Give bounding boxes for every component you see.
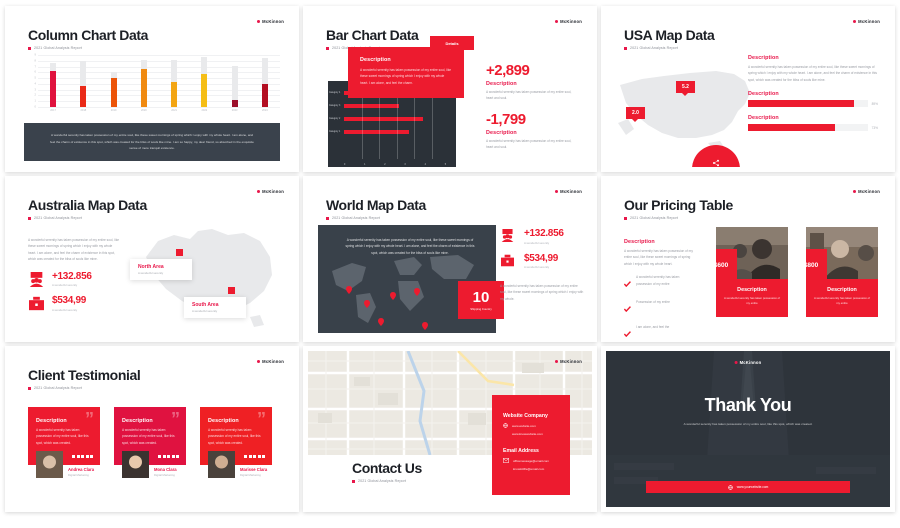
chart-bar-row: Category 1 [344,128,446,136]
chart-bar [80,55,86,107]
brand-logo: McKinnon [853,19,880,24]
star-icon [167,455,170,458]
gridline [38,107,280,108]
plan-price: $600 [716,262,728,269]
bar-fill [50,71,56,107]
website-cta-button[interactable]: www.yourwebsite.com [646,481,850,493]
star-icon [163,455,166,458]
logo-dot-icon [853,20,856,23]
rating-stars [244,455,265,458]
pricing-info-panel: Description A wonderful serenity has tak… [624,239,694,337]
bar-fill [111,78,117,107]
x-tick-label: 2020 [137,109,151,112]
briefcase-icon [500,254,517,269]
brand-logo: McKinnon [257,189,284,194]
brand-logo: McKinnon [257,359,284,364]
website-line: www.website.com [512,424,536,428]
bar-fill [232,100,238,107]
bullet-square-icon [352,480,355,483]
slide-contact-us[interactable]: McKinnon Contact Us 2021 Global Analysis… [303,346,597,512]
y-tick-label: 7 [35,65,36,68]
stats-column: +2,899 Description A wonderful serenity … [486,63,578,161]
bar-fill [262,84,268,107]
bullet-square-icon [624,47,627,50]
chart-x-axis: 012345 [344,164,446,166]
stats-panel: A wonderful serenity has taken possessio… [28,237,120,312]
plan-photo: $800 [806,227,878,279]
map-pin-icon[interactable] [364,295,370,303]
star-icon [77,455,80,458]
panel-body: A wonderful serenity has taken possessio… [748,64,878,83]
stat-sub: A wonderful serenity [524,265,558,269]
star-icon [258,455,261,458]
stat-heading: Description [486,130,578,136]
description-card: Description A wonderful serenity has tak… [348,47,464,98]
website-line: www.knowwebsite.com [512,432,543,436]
map-label-title: South Area [192,302,238,308]
progress-value: 73% [872,126,878,130]
logo-text: McKinnon [560,19,582,24]
plan-heading: Description [724,287,780,293]
bar-fill [201,74,207,108]
chart-bar [111,55,117,107]
y-tick-label: 9 [35,54,36,57]
x-tick-label: 4 [425,164,426,166]
client-name: Mona Clara [154,467,177,472]
card-body: A wonderful serenity has taken possessio… [36,427,92,446]
chart-bar [201,55,207,107]
check-icon [624,274,631,292]
plan-body: A wonderful serenity has taken possessio… [724,296,780,307]
quote-icon: ” [257,413,266,426]
website-row[interactable]: www.knowwebsite.com [503,432,559,436]
checklist-item: I am alone, and feel the [624,324,694,337]
stat-value: +132.856 [52,272,92,283]
map-pin-icon[interactable] [422,317,428,325]
star-icon [72,455,75,458]
email-row[interactable]: officemessage@email.com [503,458,559,463]
checklist-item: Possession of my entire [624,299,694,317]
website-heading: Website Company [503,413,559,419]
subtitle-row: 2021 Global Analysis Report [352,479,422,483]
checklist-text: Possession of my entire [636,299,670,305]
page-subtitle: 2021 Global Analysis Report [34,386,82,390]
star-icon [81,455,84,458]
bar-fill [344,130,409,134]
map-marker-square[interactable] [228,287,235,294]
star-icon [262,455,265,458]
plan-photo: $600 [716,227,788,279]
bar-fill [344,117,423,121]
progress-label: Description [748,115,878,121]
chart-bar-row: Category 2 [344,115,446,123]
side-body: A wonderful serenity has taken possessio… [500,283,584,302]
pricing-card[interactable]: $600 Description A wonderful serenity ha… [716,227,788,317]
star-icon [90,455,93,458]
stat-text: $534,99 A wonderful serenity [52,296,86,312]
thankyou-block: Thank You A wonderful serenity has taken… [606,395,890,427]
stat-block: -1,799 Description A wonderful serenity … [486,112,578,151]
slide-grid: McKinnon Column Chart Data 2021 Global A… [0,0,900,528]
page-title: USA Map Data [624,27,714,43]
overlay-text-block: A wonderful serenity has taken possessio… [344,237,476,256]
bar-fill [344,104,399,108]
plan-heading: Description [814,287,870,293]
stat-sub: A wonderful serenity [52,283,92,287]
info-panel: Description A wonderful serenity has tak… [748,55,878,131]
client-name: Marisse Clara [240,467,267,472]
page-subtitle: 2021 Global Analysis Report [34,216,82,220]
panel-body: A wonderful serenity has taken possessio… [624,248,694,267]
stat-value: +132.856 [524,229,564,240]
progress-track [748,124,868,131]
plan-footer: Description A wonderful serenity has tak… [806,279,878,317]
map-label-title: North Area [138,264,184,270]
stat-value: $534,99 [524,254,558,265]
stat-row: +132.856 A wonderful serenity [500,229,584,245]
usa-map: 5.2 2.0 Shareable Value [612,59,758,155]
slide-australia-map-data[interactable]: McKinnon Australia Map Data 2021 Global … [5,176,299,342]
progress-fill [748,100,854,107]
people-group-icon [28,272,45,287]
chart-bars [38,55,280,107]
card-heading: Description [122,418,178,424]
checklist-item: A wonderful serenity has taken possessio… [624,274,694,292]
slide-header: Our Pricing Table 2021 Global Analysis R… [624,197,733,220]
bullet-square-icon [28,217,31,220]
logo-text: McKinnon [560,189,582,194]
x-tick-label: 2017 [46,109,60,112]
feature-checklist: A wonderful serenity has taken possessio… [624,274,694,337]
y-tick-label: 8 [35,59,36,62]
page-subtitle: 2021 Global Analysis Report [358,479,406,483]
x-tick-label: 0 [344,164,345,166]
y-tick-label: 4 [35,82,36,85]
bar-category-label: Category 3 [329,105,340,107]
logo-dot-icon [257,360,260,363]
client-role: Digital Marketing [240,473,261,477]
badge-value: 10 [473,290,490,305]
map-label-sub: A wonderful serenity [192,309,238,313]
progress-group: Description 73% [748,115,878,131]
page-title: Contact Us [352,460,422,476]
email-heading: Email Address [503,448,559,454]
map-marker[interactable]: 5.2 [676,81,695,93]
brand-logo: McKinnon [555,359,582,364]
panel-heading: Description [748,55,878,61]
map-label-card[interactable]: North Area A wonderful serenity [130,259,192,280]
client-name: Andrea Clara [68,467,94,472]
rating-stars [72,455,93,458]
star-icon [176,455,179,458]
slide-column-chart-data[interactable]: McKinnon Column Chart Data 2021 Global A… [5,6,299,172]
page-subtitle: 2021 Global Analysis Report [630,216,678,220]
y-tick-label: 0 [35,106,36,109]
star-icon [172,455,175,458]
map-label-sub: A wonderful serenity [138,271,184,275]
stat-row: +132.856 A wonderful serenity [28,272,120,288]
subtitle-row: 2021 Global Analysis Report [624,216,733,220]
chart-x-axis: 20172018201920202021202220232024 [38,109,280,112]
chart-bar-row: Category 3 [344,102,446,110]
brand-logo: McKinnon [853,189,880,194]
logo-text: McKinnon [560,359,582,364]
x-tick-label: 2 [384,164,385,166]
stat-value: $534,99 [52,296,86,307]
bullet-square-icon [624,217,627,220]
progress-row: 89% [748,100,878,107]
chart-bar [141,55,147,107]
chart-y-axis: 9876543210 [28,55,36,107]
bullet-square-icon [326,217,329,220]
logo-dot-icon [735,361,738,364]
slide-client-testimonial[interactable]: McKinnon Client Testimonial 2021 Global … [5,346,299,512]
thankyou-body: A wonderful serenity has taken possessio… [606,421,890,427]
contact-card: Website Company www.website.com www.know… [492,395,570,495]
y-tick-label: 6 [35,71,36,74]
stat-row: $534,99 A wonderful serenity [500,254,584,270]
subtitle-row: 2021 Global Analysis Report [28,386,140,390]
chart-bar [50,55,56,107]
logo-text: McKinnon [262,189,284,194]
slide-header: Contact Us 2021 Global Analysis Report [352,460,422,483]
people-group-icon [500,229,517,244]
map-pin-icon[interactable] [414,283,420,291]
logo-dot-icon [555,360,558,363]
star-icon [253,455,256,458]
globe-icon [503,423,508,428]
x-tick-label: 2021 [167,109,181,112]
briefcase-icon [28,296,45,311]
map-marker-label: 5.2 [682,84,689,90]
client-role: Digital Marketing [154,473,175,477]
map-label-card[interactable]: South Area A wonderful serenity [184,297,246,318]
page-title: World Map Data [326,197,426,213]
x-tick-label: 2019 [107,109,121,112]
avatar [208,451,235,478]
y-tick-label: 3 [35,88,36,91]
page-subtitle: 2021 Global Analysis Report [630,46,678,50]
brand-logo: McKinnon [555,189,582,194]
envelope-icon [503,458,509,463]
map-pin-icon[interactable] [378,313,384,321]
x-tick-label: 2023 [228,109,242,112]
website-row[interactable]: www.website.com [503,423,559,428]
subtitle-row: 2021 Global Analysis Report [624,46,714,50]
slide-header: World Map Data 2021 Global Analysis Repo… [326,197,426,220]
page-title: Australia Map Data [28,197,147,213]
card-heading: Description [360,57,452,63]
chart-bar [232,55,238,107]
bar-fill [171,82,177,107]
page-title: Column Chart Data [28,27,148,43]
stat-block: +2,899 Description A wonderful serenity … [486,63,578,102]
logo-text: McKinnon [858,189,880,194]
brand-logo: McKinnon [735,360,762,365]
pricing-card[interactable]: $800 Description A wonderful serenity ha… [806,227,878,317]
y-tick-label: 1 [35,100,36,103]
bar-fill [141,69,147,107]
star-icon [158,455,161,458]
logo-dot-icon [257,190,260,193]
horizontal-bar-chart: Category 4Category 3Category 2Category 1 [344,89,446,157]
slide-world-map-data[interactable]: McKinnon World Map Data 2021 Global Anal… [303,176,597,342]
y-tick-label: 2 [35,94,36,97]
card-body: A wonderful serenity has taken possessio… [208,427,264,446]
page-title: Thank You [606,395,890,416]
quote-icon: ” [171,413,180,426]
slide-header: Column Chart Data 2021 Global Analysis R… [28,27,148,50]
progress-track [748,100,868,107]
logo-dot-icon [257,20,260,23]
slide-header: USA Map Data 2021 Global Analysis Report [624,27,714,50]
page-title: Our Pricing Table [624,197,733,213]
bar-category-label: Category 4 [329,92,340,94]
x-tick-label: 3 [404,164,405,166]
subtitle-row: 2021 Global Analysis Report [326,216,426,220]
quote-icon: ” [85,413,94,426]
plan-price-badge: $600 [716,249,737,279]
star-icon [244,455,247,458]
share-icon [712,159,720,167]
client-role: Digital Marketing [68,473,89,477]
progress-value: 89% [872,102,878,106]
bar-category-label: Category 2 [329,118,340,120]
shipping-country-badge: 10 Shipping Country [458,281,504,319]
plan-price: $800 [806,262,818,269]
progress-fill [748,124,835,131]
y-tick-label: 5 [35,77,36,80]
australia-map: North Area A wonderful serenity South Ar… [124,217,284,335]
bar-fill [80,86,86,107]
bullet-square-icon [28,47,31,50]
email-row[interactable]: knowlolifile@email.com [503,467,559,471]
card-heading: Description [208,418,264,424]
chart-bar [262,55,268,107]
brand-logo: McKinnon [555,19,582,24]
stat-text: +132.856 A wonderful serenity [52,272,92,288]
map-marker[interactable]: 2.0 [626,107,645,119]
stat-heading: Description [486,81,578,87]
logo-dot-icon [555,20,558,23]
bullet-square-icon [326,47,329,50]
logo-dot-icon [555,190,558,193]
column-chart: 9876543210 20172018201920202021202220232… [28,55,280,117]
slide-usa-map-data[interactable]: McKinnon USA Map Data 2021 Global Analys… [601,6,895,172]
chart-plot-area [38,55,280,107]
slide-bar-chart-data[interactable]: McKinnon Bar Chart Data 2021 Global Anal… [303,6,597,172]
email-line: knowlolifile@email.com [513,467,544,471]
logo-text: McKinnon [262,359,284,364]
x-tick-label: 2022 [197,109,211,112]
logo-text: McKinnon [740,360,762,365]
progress-row: 73% [748,124,878,131]
x-tick-label: 1 [364,164,365,166]
map-pin-icon[interactable] [346,281,352,289]
bar-category-label: Category 1 [329,131,340,133]
stat-body: A wonderful serenity has taken possessio… [486,138,578,151]
stat-value: -1,799 [486,112,578,127]
map-marker-square[interactable] [176,249,183,256]
bullet-square-icon [28,387,31,390]
slide-header: Client Testimonial 2021 Global Analysis … [28,367,140,390]
stat-sub: A wonderful serenity [52,308,86,312]
stat-sub: A wonderful serenity [524,241,564,245]
x-tick-label: 2024 [258,109,272,112]
footer-note-panel: A wonderful serenity has taken possessio… [24,123,280,161]
stat-value: +2,899 [486,63,578,78]
stat-body: A wonderful serenity has taken possessio… [486,89,578,102]
stat-row: $534,99 A wonderful serenity [28,296,120,312]
stat-text: $534,99 A wonderful serenity [524,254,558,270]
plan-footer: Description A wonderful serenity has tak… [716,279,788,317]
page-subtitle: 2021 Global Analysis Report [34,46,82,50]
check-icon [624,324,631,337]
logo-text: McKinnon [262,19,284,24]
subtitle-row: 2021 Global Analysis Report [28,46,148,50]
checklist-text: A wonderful serenity has taken possessio… [636,274,694,287]
avatar [122,451,149,478]
cta-label: www.yourwebsite.com [737,485,769,489]
plan-price-badge: $800 [806,249,827,279]
badge-label: Shipping Country [470,307,491,311]
card-body: A wonderful serenity has taken possessio… [122,427,178,446]
page-title: Client Testimonial [28,367,140,383]
logo-dot-icon [853,190,856,193]
rating-stars [158,455,179,458]
stats-panel: +132.856 A wonderful serenity $534,99 A … [500,229,584,302]
map-marker-label: 2.0 [632,110,639,116]
x-tick-label: 2018 [76,109,90,112]
chart-bar [171,55,177,107]
x-tick-label: 5 [445,164,446,166]
star-icon [86,455,89,458]
card-body: A wonderful serenity has taken possessio… [360,67,452,86]
globe-icon [728,485,733,490]
slide-thank-you[interactable]: McKinnon Thank You A wonderful serenity … [601,346,895,512]
star-icon [249,455,252,458]
avatar [36,451,63,478]
checklist-text: I am alone, and feel the [636,324,669,330]
plan-body: A wonderful serenity has taken possessio… [814,296,870,307]
brand-logo: McKinnon [257,19,284,24]
map-pin-icon[interactable] [390,287,396,295]
page-title: Bar Chart Data [326,27,418,43]
details-tab-label: Details [445,41,458,46]
email-line: officemessage@email.com [513,459,549,463]
logo-text: McKinnon [858,19,880,24]
progress-label: Description [748,91,878,97]
check-icon [624,299,631,317]
progress-group: Description 89% [748,91,878,107]
panel-heading: Description [624,239,694,245]
stat-text: +132.856 A wonderful serenity [524,229,564,245]
overlay-text: A wonderful serenity has taken possessio… [344,237,476,256]
panel-body: A wonderful serenity has taken possessio… [28,237,120,263]
slide-our-pricing-table[interactable]: McKinnon Our Pricing Table 2021 Global A… [601,176,895,342]
card-heading: Description [36,418,92,424]
footer-note-text: A wonderful serenity has taken possessio… [50,132,254,151]
page-subtitle: 2021 Global Analysis Report [332,216,380,220]
